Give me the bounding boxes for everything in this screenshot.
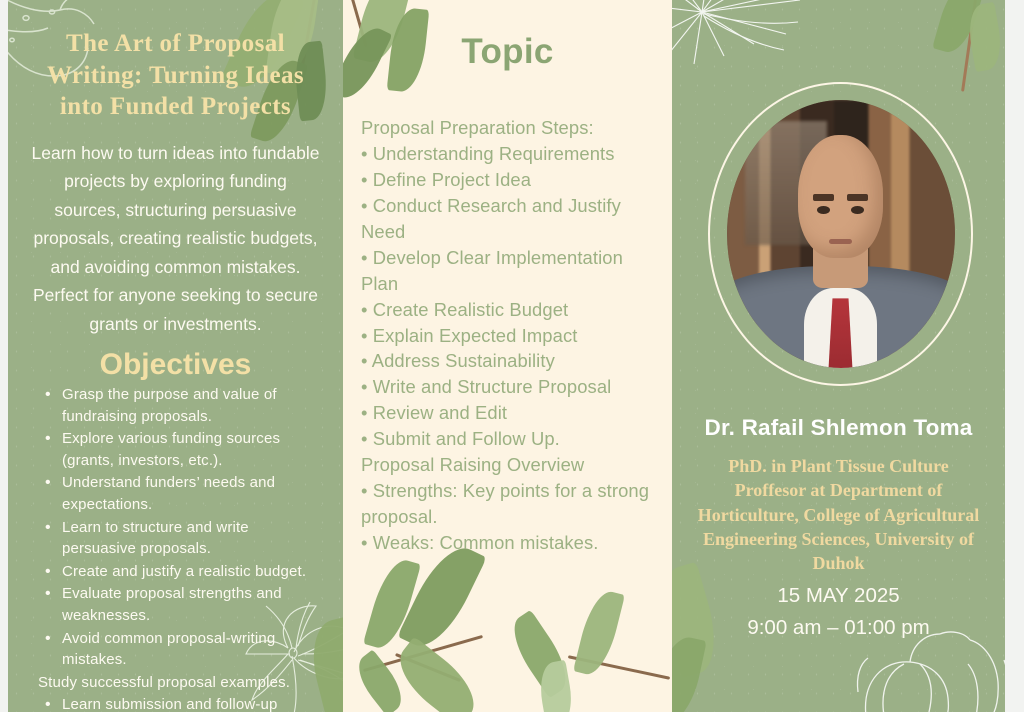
topic-line: • Strengths: Key points for a strong pro… (361, 478, 654, 530)
left-panel-content: The Art of Proposal Writing: Turning Ide… (8, 28, 343, 712)
left-panel: The Art of Proposal Writing: Turning Ide… (8, 0, 343, 712)
topic-line: • Address Sustainability (361, 348, 654, 374)
speaker-name: Dr. Rafail Shlemon Toma (672, 415, 1005, 441)
topic-line: • Submit and Follow Up. (361, 426, 654, 452)
objective-item: Study successful proposal examples. (38, 672, 323, 695)
event-date: 15 MAY 2025 (672, 580, 1005, 612)
topic-lines-list: Proposal Preparation Steps:• Understandi… (361, 115, 654, 556)
objective-item: Learn to structure and write persuasive … (38, 517, 323, 561)
page-title: The Art of Proposal Writing: Turning Ide… (34, 28, 317, 123)
event-time: 9:00 am – 01:00 pm (672, 612, 1005, 644)
center-panel-content: Topic Proposal Preparation Steps:• Under… (343, 32, 672, 556)
objective-item: Avoid common proposal-writing mistakes. (38, 628, 323, 672)
topic-heading: Topic (361, 32, 654, 72)
topic-line: • Understanding Requirements (361, 141, 654, 167)
objective-item: Create and justify a realistic budget. (38, 561, 323, 584)
objective-item: Learn submission and follow-up strategie… (38, 694, 323, 712)
objectives-heading: Objectives (28, 348, 323, 382)
topic-line: • Conduct Research and Justify Need (361, 193, 654, 245)
topic-line: • Develop Clear Implementation Plan (361, 245, 654, 297)
portrait-frame (708, 82, 973, 386)
right-panel: Dr. Rafail Shlemon Toma PhD. in Plant Ti… (672, 0, 1005, 712)
poster-canvas: The Art of Proposal Writing: Turning Ide… (0, 0, 1024, 712)
objectives-list: Grasp the purpose and value of fundraisi… (28, 384, 323, 712)
objective-item: Evaluate proposal strengths and weakness… (38, 583, 323, 627)
objective-item: Grasp the purpose and value of fundraisi… (38, 384, 323, 428)
objective-item: Understand funders’ needs and expectatio… (38, 472, 323, 516)
objective-item: Explore various funding sources (grants,… (38, 428, 323, 472)
topic-line: • Review and Edit (361, 400, 654, 426)
topic-line: • Weaks: Common mistakes. (361, 530, 654, 556)
event-datetime: 15 MAY 2025 9:00 am – 01:00 pm (672, 580, 1005, 644)
topic-line: • Define Project Idea (361, 167, 654, 193)
leaf-branch-bottom-left (357, 548, 567, 712)
topic-line: • Explain Expected Impact (361, 323, 654, 349)
intro-paragraph: Learn how to turn ideas into fundable pr… (30, 139, 321, 339)
leaf-branch-bottom-right (519, 600, 672, 712)
topic-line: • Write and Structure Proposal (361, 374, 654, 400)
speaker-credentials: PhD. in Plant Tissue Culture Proffesor a… (694, 454, 983, 575)
topic-line: Proposal Preparation Steps: (361, 115, 654, 141)
avatar (727, 100, 955, 368)
center-panel: Topic Proposal Preparation Steps:• Under… (343, 0, 672, 712)
topic-line: Proposal Raising Overview (361, 452, 654, 478)
topic-line: • Create Realistic Budget (361, 297, 654, 323)
